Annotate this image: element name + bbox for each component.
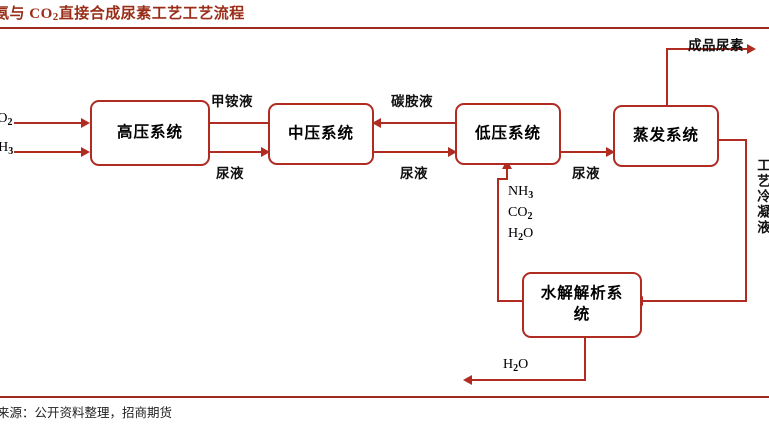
water-outlet-downcomer-line — [584, 338, 586, 380]
recycle-riser-line — [497, 178, 499, 302]
input-label-nh3: NH3 — [0, 140, 13, 157]
footer-divider — [0, 396, 769, 398]
water-outlet-line — [471, 379, 586, 381]
carbamate-return-line-mp-lp — [380, 122, 460, 124]
input-label-co2: CO2 — [0, 111, 12, 128]
node-hydrolysis-system[interactable]: 水解解析系统 — [522, 272, 642, 338]
source-note: 资料来源：公开资料整理，招商期货 — [0, 402, 172, 421]
condensate-downcomer-line — [745, 139, 747, 301]
co2-inlet-line — [14, 122, 82, 124]
water-outlet-label: H2O — [503, 357, 528, 374]
page-title-prefix: 氨与 — [0, 6, 29, 22]
carbamate-return-line-hp-mp — [200, 122, 272, 124]
flow-label-product-urea: 成品尿素 — [688, 34, 744, 54]
flow-label-carbamate-mp-lp: 碳胺液 — [391, 90, 433, 110]
nh3-inlet-line — [14, 151, 82, 153]
node-low-pressure-system[interactable]: 低压系统 — [455, 103, 561, 165]
recycle-line-from-hydrolysis — [497, 300, 524, 302]
flow-label-carbamate-hp-mp: 甲铵液 — [211, 90, 253, 110]
flow-label-urea-hp-mp: 尿液 — [216, 162, 244, 182]
page-title: 氨与 CO2直接合成尿素工艺工艺流程 — [0, 2, 769, 23]
nh3-inlet-arrowhead — [81, 147, 90, 157]
recycle-gas-label-nh3: NH3 — [508, 184, 533, 201]
flow-label-urea-lp-ev: 尿液 — [572, 162, 600, 182]
node-high-pressure-system[interactable]: 高压系统 — [90, 100, 210, 166]
product-urea-arrowhead — [747, 44, 756, 54]
water-outlet-arrowhead — [463, 375, 472, 385]
node-medium-pressure-system[interactable]: 中压系统 — [268, 103, 374, 165]
recycle-gas-label-co2: CO2 — [508, 205, 532, 222]
flow-label-process-condensate: 工艺冷凝液 — [752, 158, 769, 236]
urea-line-mp-lp — [374, 151, 456, 153]
flow-label-urea-mp-lp: 尿液 — [400, 162, 428, 182]
co2-inlet-arrowhead — [81, 118, 90, 128]
condensate-line-to-hydrolysis — [640, 300, 747, 302]
page-title-suffix: 直接合成尿素工艺工艺流程 — [59, 6, 245, 22]
page-title-formula: CO — [29, 6, 53, 22]
node-evaporation-system[interactable]: 蒸发系统 — [613, 105, 719, 167]
product-urea-riser-line — [666, 48, 668, 106]
condensate-line-from-evaporation — [717, 139, 747, 141]
title-divider — [0, 27, 769, 29]
recycle-gas-label-h2o: H2O — [508, 226, 533, 243]
